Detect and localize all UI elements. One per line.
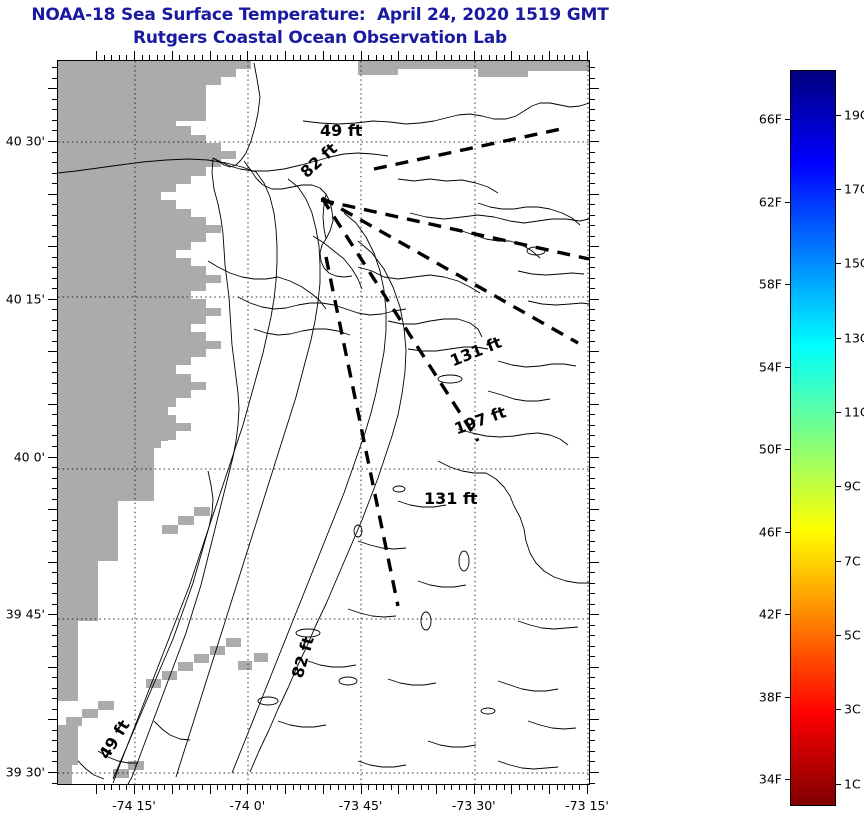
colorbar-label-celsius: 5C bbox=[844, 628, 861, 643]
x-tick-label: -73 30' bbox=[452, 798, 496, 813]
x-tick-label: -73 15' bbox=[565, 798, 609, 813]
y-tick-label: 39 45' bbox=[0, 607, 45, 622]
colorbar-label-celsius: 13C bbox=[844, 330, 864, 345]
colorbar-tick-right bbox=[835, 561, 841, 562]
colorbar[interactable] bbox=[790, 70, 836, 806]
colorbar-tick-right bbox=[835, 189, 841, 190]
y-tick-label: 39 30' bbox=[0, 765, 45, 780]
colorbar-label-celsius: 17C bbox=[844, 181, 864, 196]
transect-line-1 bbox=[374, 129, 561, 169]
colorbar-tick-left bbox=[785, 284, 791, 285]
title-line-2: Rutgers Coastal Ocean Observation Lab bbox=[0, 27, 640, 50]
depth-label: 49 ft bbox=[320, 121, 362, 140]
colorbar-tick-right bbox=[835, 635, 841, 636]
x-tick-label: -74 0' bbox=[229, 798, 265, 813]
colorbar-label-fahrenheit: 34F bbox=[742, 772, 782, 787]
colorbar-label-celsius: 11C bbox=[844, 404, 864, 419]
colorbar-tick-right bbox=[835, 115, 841, 116]
colorbar-tick-left bbox=[785, 449, 791, 450]
colorbar-label-celsius: 1C bbox=[844, 776, 861, 791]
title-line-1: NOAA-18 Sea Surface Temperature: April 2… bbox=[0, 4, 640, 27]
x-tick-label: -74 15' bbox=[112, 798, 156, 813]
colorbar-label-celsius: 19C bbox=[844, 107, 864, 122]
colorbar-tick-right bbox=[835, 486, 841, 487]
colorbar-tick-left bbox=[785, 532, 791, 533]
colorbar-label-fahrenheit: 50F bbox=[742, 442, 782, 457]
land-mask bbox=[58, 61, 589, 784]
colorbar-tick-left bbox=[785, 367, 791, 368]
colorbar-label-celsius: 9C bbox=[844, 479, 861, 494]
colorbar-tick-right bbox=[835, 412, 841, 413]
colorbar-label-fahrenheit: 38F bbox=[742, 689, 782, 704]
colorbar-label-fahrenheit: 46F bbox=[742, 524, 782, 539]
depth-label: 131 ft bbox=[424, 489, 478, 508]
colorbar-label-celsius: 15C bbox=[844, 256, 864, 271]
map-graphic bbox=[58, 61, 589, 784]
colorbar-tick-left bbox=[785, 119, 791, 120]
colorbar-label-fahrenheit: 58F bbox=[742, 277, 782, 292]
colorbar-label-celsius: 7C bbox=[844, 553, 861, 568]
colorbar-label-fahrenheit: 66F bbox=[742, 112, 782, 127]
x-tick-label: -73 45' bbox=[339, 798, 383, 813]
colorbar-tick-right bbox=[835, 784, 841, 785]
colorbar-tick-right bbox=[835, 263, 841, 264]
colorbar-tick-left bbox=[785, 697, 791, 698]
transect-line-5 bbox=[326, 257, 398, 606]
colorbar-tick-left bbox=[785, 779, 791, 780]
colorbar-label-fahrenheit: 42F bbox=[742, 607, 782, 622]
y-tick-label: 40 30' bbox=[0, 134, 45, 149]
colorbar-tick-right bbox=[835, 338, 841, 339]
transect-line-3 bbox=[322, 198, 578, 343]
y-tick-label: 40 0' bbox=[0, 449, 45, 464]
colorbar-label-fahrenheit: 54F bbox=[742, 359, 782, 374]
colorbar-label-celsius: 3C bbox=[844, 702, 861, 717]
colorbar-tick-left bbox=[785, 614, 791, 615]
colorbar-tick-left bbox=[785, 202, 791, 203]
sst-map-page: NOAA-18 Sea Surface Temperature: April 2… bbox=[0, 0, 864, 832]
colorbar-label-fahrenheit: 62F bbox=[742, 194, 782, 209]
y-tick-label: 40 15' bbox=[0, 291, 45, 306]
colorbar-tick-right bbox=[835, 709, 841, 710]
page-title: NOAA-18 Sea Surface Temperature: April 2… bbox=[0, 4, 640, 50]
